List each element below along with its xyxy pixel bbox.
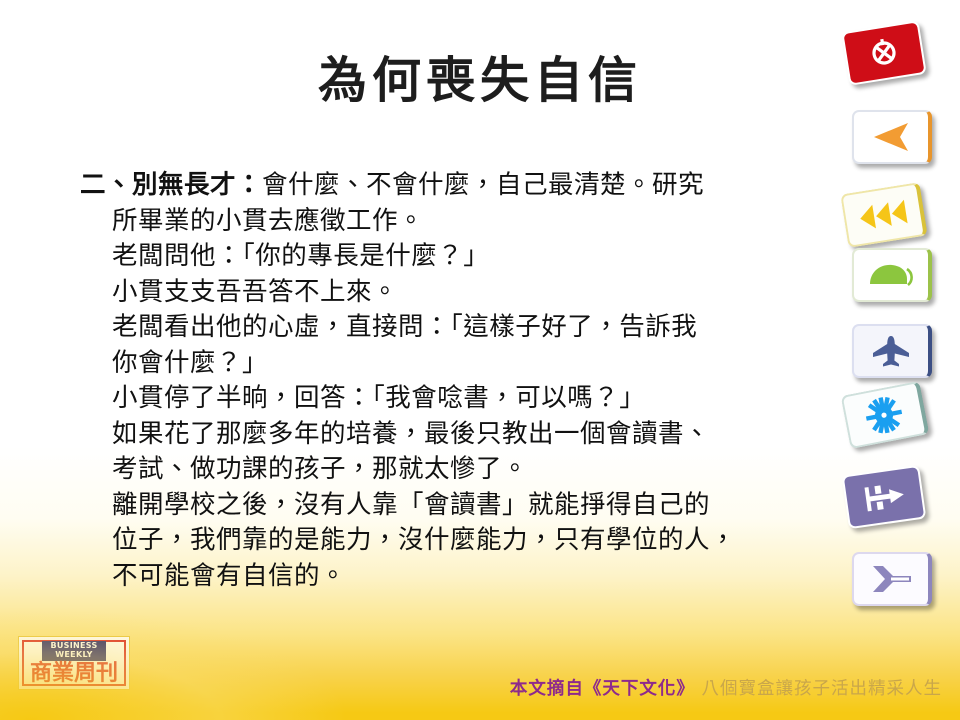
page-title: 為何喪失自信 [0,55,960,106]
credit-source: 本文摘自《天下文化》 [510,679,695,699]
body-text-block: 二、別無長才：會什麼、不會什麼，自己最清楚。研究所畢業的小貫去應徵工作。老闆問他… [80,168,880,594]
body-line-text: 考試、做功課的孩子，那就太慘了。 [112,454,528,484]
body-line-12: 不可能會有自信的。 [80,559,880,595]
body-line-7: 小貫停了半晌，回答：「我會唸書，可以嗎？」 [80,381,880,417]
airplane-icon [868,333,914,369]
logo-chinese: 商業周刊 [30,662,118,685]
body-line-text: 離開學校之後，沒有人靠「會讀書」就能掙得自己的 [112,490,710,520]
slide-canvas: 為何喪失自信 二、別無長才：會什麼、不會什麼，自己最清楚。研究所畢業的小貫去應徵… [0,0,960,720]
logo-english: BUSINESS WEEKLY [42,641,106,661]
body-line-8: 如果花了那麼多年的培養，最後只教出一個會讀書、 [80,417,880,453]
triple-chevron-left-icon [854,197,912,233]
body-line-text: 小貫停了半晌，回答：「我會唸書，可以嗎？」 [112,383,645,413]
body-line-5: 老闆看出他的心虛，直接問：「這樣子好了，告訴我 [80,310,880,346]
business-weekly-logo: BUSINESS WEEKLY 商業周刊 [18,636,130,690]
triangle-left-icon [870,121,912,153]
body-line-3: 老闆問他：「你的專長是什麼？」 [80,239,880,275]
body-line-1: 二、別無長才：會什麼、不會什麼，自己最清楚。研究 [80,168,880,204]
trident-card [842,465,927,529]
logo-english-bottom: WEEKLY [42,651,106,660]
cap-card [852,248,932,302]
body-line-2: 所畢業的小貫去應徵工作。 [80,204,880,240]
body-line-4: 小貫支支吾吾答不上來。 [80,275,880,311]
body-line-9: 考試、做功課的孩子，那就太慘了。 [80,452,880,488]
body-line-text: 所畢業的小貫去應徵工作。 [112,206,424,236]
body-line-lead: 二、別無長才： [80,170,262,200]
merge-arrows-icon [867,562,915,596]
body-line-text: 不可能會有自信的。 [112,561,346,591]
sunburst-icon [861,392,908,439]
body-line-text: 小貫支支吾吾答不上來。 [112,277,398,307]
body-line-text: 位子，我們靠的是能力，沒什麼能力，只有學位的人， [112,525,736,555]
body-line-text: 老闆問他：「你的專長是什麼？」 [112,241,489,271]
body-line-text: 如果花了那麼多年的培養，最後只教出一個會讀書、 [112,419,710,449]
merge-card [852,552,932,606]
body-line-6: 你會什麼？」 [80,346,880,382]
body-line-11: 位子，我們靠的是能力，沒什麼能力，只有學位的人， [80,523,880,559]
source-credit: 本文摘自《天下文化》 八個寶盒讓孩子活出精采人生 [510,678,942,700]
play-left-card [852,110,932,164]
body-line-text: 會什麼、不會什麼，自己最清楚。研究 [262,170,704,200]
cap-icon [866,260,916,290]
credit-subtitle: 八個寶盒讓孩子活出精采人生 [702,679,943,699]
logo-inner: BUSINESS WEEKLY 商業周刊 [22,640,126,686]
trident-arrows-icon [854,476,914,517]
body-line-10: 離開學校之後，沒有人靠「會讀書」就能掙得自己的 [80,488,880,524]
body-line-text: 老闆看出他的心虛，直接問：「這樣子好了，告訴我 [112,312,697,342]
body-line-text: 你會什麼？」 [112,348,268,378]
chevron-card [840,182,927,248]
circle-slash-icon [865,34,904,73]
airplane-card [852,324,932,378]
